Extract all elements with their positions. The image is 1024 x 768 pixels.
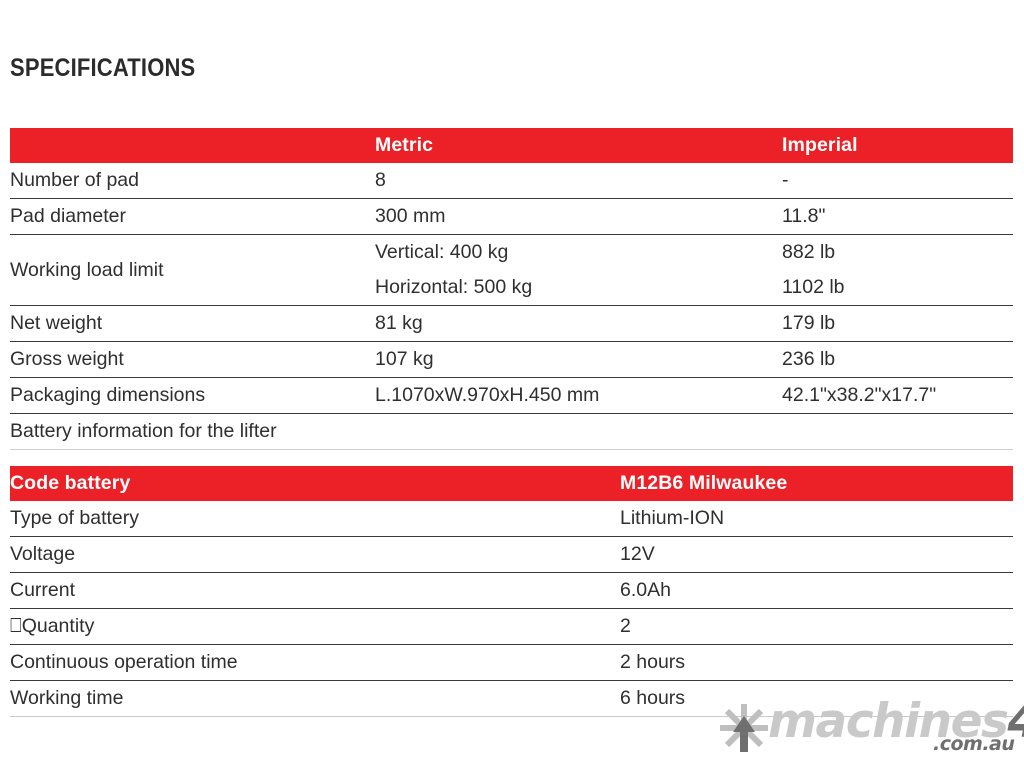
cell-metric-line-2: Horizontal: 500 kg <box>375 270 782 305</box>
table-row: Voltage 12V <box>10 537 1013 573</box>
header-cell-battery-model: M12B6 Milwaukee <box>620 466 1013 501</box>
header-cell-blank <box>10 128 375 163</box>
starburst-arrow-icon <box>718 702 770 754</box>
cell-label: ⎕Quantity <box>10 609 620 645</box>
table-row: Type of battery Lithium-ION <box>10 501 1013 537</box>
cell-imperial: 11.8" <box>782 199 1013 235</box>
cell-label: Number of pad <box>10 163 375 199</box>
specifications-table-body: Number of pad 8 - Pad diameter 300 mm 11… <box>10 163 1013 450</box>
cell-label: Working load limit <box>10 235 375 306</box>
cell-label: Pad diameter <box>10 199 375 235</box>
table-header-row: Code battery M12B6 Milwaukee <box>10 466 1013 501</box>
table-row: Continuous operation time 2 hours <box>10 645 1013 681</box>
cell-label: Current <box>10 573 620 609</box>
cell-imperial: 179 lb <box>782 306 1013 342</box>
watermark-tld: .com.au <box>933 733 1014 755</box>
cell-metric: 81 kg <box>375 306 782 342</box>
table-row: Current 6.0Ah <box>10 573 1013 609</box>
cell-metric: L.1070xW.970xH.450 mm <box>375 378 782 414</box>
page-title: SPECIFICATIONS <box>10 56 195 81</box>
cell-metric: 300 mm <box>375 199 782 235</box>
table-row: Packaging dimensions L.1070xW.970xH.450 … <box>10 378 1013 414</box>
table-row: Number of pad 8 - <box>10 163 1013 199</box>
header-cell-code-battery: Code battery <box>10 466 620 501</box>
header-cell-imperial: Imperial <box>782 128 1013 163</box>
table-row: Gross weight 107 kg 236 lb <box>10 342 1013 378</box>
table-row: Pad diameter 300 mm 11.8" <box>10 199 1013 235</box>
battery-table-body: Type of battery Lithium-ION Voltage 12V … <box>10 501 1013 717</box>
cell-imperial: 42.1"x38.2"x17.7" <box>782 378 1013 414</box>
document-page: SPECIFICATIONS Metric Imperial Number of… <box>0 0 1024 768</box>
cell-value: Lithium-ION <box>620 501 1013 537</box>
header-cell-metric: Metric <box>375 128 782 163</box>
cell-value: 2 <box>620 609 1013 645</box>
cell-metric: Vertical: 400 kg Horizontal: 500 kg <box>375 235 782 306</box>
cell-value: 2 hours <box>620 645 1013 681</box>
watermark-logo: machines4u .com.au <box>718 700 1018 762</box>
cell-label: Working time <box>10 681 620 717</box>
table-header-row: Metric Imperial <box>10 128 1013 163</box>
battery-information-note: Battery information for the lifter <box>10 414 1013 450</box>
battery-table: Code battery M12B6 Milwaukee Type of bat… <box>10 466 1013 717</box>
cell-metric: 8 <box>375 163 782 199</box>
cell-metric: 107 kg <box>375 342 782 378</box>
cell-label: Voltage <box>10 537 620 573</box>
table-row: ⎕Quantity 2 <box>10 609 1013 645</box>
table-row: Net weight 81 kg 179 lb <box>10 306 1013 342</box>
cell-imperial-line-1: 882 lb <box>782 235 1013 270</box>
cell-label: Net weight <box>10 306 375 342</box>
cell-imperial: 236 lb <box>782 342 1013 378</box>
battery-table-head: Code battery M12B6 Milwaukee <box>10 466 1013 501</box>
specifications-table-head: Metric Imperial <box>10 128 1013 163</box>
cell-imperial: - <box>782 163 1013 199</box>
cell-imperial-line-2: 1102 lb <box>782 270 1013 305</box>
table-row-note: Battery information for the lifter <box>10 414 1013 450</box>
cell-imperial: 882 lb 1102 lb <box>782 235 1013 306</box>
cell-metric-line-1: Vertical: 400 kg <box>375 235 782 270</box>
cell-label: Gross weight <box>10 342 375 378</box>
cell-value: 12V <box>620 537 1013 573</box>
cell-value: 6.0Ah <box>620 573 1013 609</box>
table-row: Working load limit Vertical: 400 kg Hori… <box>10 235 1013 306</box>
cell-label: Packaging dimensions <box>10 378 375 414</box>
specifications-table: Metric Imperial Number of pad 8 - Pad di… <box>10 128 1013 450</box>
cell-label: Type of battery <box>10 501 620 537</box>
cell-label: Continuous operation time <box>10 645 620 681</box>
